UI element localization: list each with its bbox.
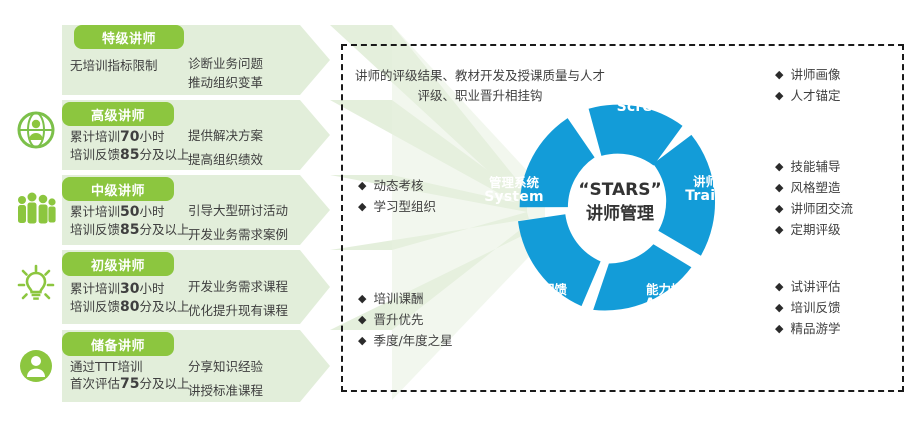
bullet-list-item: ◆ 讲师画像	[775, 64, 840, 85]
diamond-bullet-icon: ◆	[358, 288, 366, 309]
ladder-row[interactable]: 初级讲师 累计培训30小时 培训反馈80分及以上 开发业务需求课程 优化提升现有…	[62, 250, 330, 324]
wheel-segment-ability	[593, 244, 691, 310]
bullets-system: ◆ 动态考核 ◆ 学习型组织	[358, 175, 436, 217]
bullet-list-item: ◆ 风格塑造	[775, 177, 853, 198]
level-requirements: 累计培训30小时 培训反馈80分及以上	[70, 280, 190, 316]
req-line: 首次评估75分及以上	[70, 375, 190, 393]
level-requirements: 无培训指标限制	[70, 57, 158, 74]
diamond-bullet-icon: ◆	[775, 276, 783, 297]
bullet-list-item: ◆ 试讲评估	[775, 276, 840, 297]
bullet-list-item: ◆ 晋升优先	[358, 309, 453, 330]
diamond-bullet-icon: ◆	[358, 175, 366, 196]
bullets-screening: ◆ 讲师画像 ◆ 人才锚定	[775, 64, 840, 106]
diamond-bullet-icon: ◆	[775, 219, 783, 240]
level-duties: 引导大型研讨活动 开发业务需求案例	[188, 201, 288, 244]
diamond-bullet-icon: ◆	[775, 198, 783, 219]
bullet-list-item: ◆ 培训反馈	[775, 297, 840, 318]
level-requirements: 累计培训70小时 培训反馈85分及以上	[70, 128, 190, 164]
people-group-icon	[14, 186, 58, 230]
diamond-bullet-icon: ◆	[358, 196, 366, 217]
diamond-bullet-icon: ◆	[775, 85, 783, 106]
globe-people-icon	[14, 108, 58, 152]
diamond-bullet-icon: ◆	[775, 177, 783, 198]
level-duties: 提供解决方案 提高组织绩效	[188, 126, 263, 169]
bullet-list-item: ◆ 精品游学	[775, 318, 840, 339]
level-badge: 初级讲师	[62, 252, 174, 276]
level-badge: 中级讲师	[62, 177, 174, 201]
req-line: 培训反馈80分及以上	[70, 298, 190, 316]
req-line: 培训反馈85分及以上	[70, 221, 190, 239]
level-requirements: 通过TTT培训 首次评估75分及以上	[70, 358, 190, 393]
bullet-list-item: ◆ 技能辅导	[775, 156, 853, 177]
diamond-bullet-icon: ◆	[358, 309, 366, 330]
bullet-list-item: ◆ 学习型组织	[358, 196, 436, 217]
level-duties: 诊断业务问题 推动组织变革	[188, 54, 263, 92]
req-line: 通过TTT培训	[70, 358, 190, 375]
person-circle-icon	[14, 344, 58, 388]
req-line: 累计培训50小时	[70, 203, 190, 221]
level-badge: 高级讲师	[62, 102, 174, 126]
bullets-training: ◆ 技能辅导 ◆ 风格塑造 ◆ 讲师团交流 ◆ 定期评级	[775, 156, 853, 240]
req-line: 累计培训30小时	[70, 280, 190, 298]
ladder-row[interactable]: 中级讲师 累计培训50小时 培训反馈85分及以上 引导大型研讨活动 开发业务需求…	[62, 175, 330, 245]
bullet-list-item: ◆ 动态考核	[358, 175, 436, 196]
bullet-list-item: ◆ 讲师团交流	[775, 198, 853, 219]
bullet-list-item: ◆ 培训课酬	[358, 288, 453, 309]
ladder-row[interactable]: 储备讲师 通过TTT培训 首次评估75分及以上 分享知识经验 讲授标准课程	[62, 330, 330, 402]
infographic-canvas: 特级讲师 无培训指标限制 诊断业务问题 推动组织变革 高级讲师 累计培训70小时…	[0, 0, 924, 432]
diamond-bullet-icon: ◆	[358, 330, 366, 351]
diamond-bullet-icon: ◆	[775, 297, 783, 318]
diamond-bullet-icon: ◆	[775, 64, 783, 85]
bullets-return: ◆ 培训课酬 ◆ 晋升优先 ◆ 季度/年度之星	[358, 288, 453, 351]
level-duties: 分享知识经验 讲授标准课程	[188, 357, 263, 400]
bullet-list-item: ◆ 季度/年度之星	[358, 330, 453, 351]
diamond-bullet-icon: ◆	[775, 156, 783, 177]
ladder-row[interactable]: 高级讲师 累计培训70小时 培训反馈85分及以上 提供解决方案 提高组织绩效	[62, 100, 330, 170]
level-requirements: 累计培训50小时 培训反馈85分及以上	[70, 203, 190, 239]
level-badge: 特级讲师	[74, 25, 184, 49]
req-line: 累计培训70小时	[70, 128, 190, 146]
bullet-list-item: ◆ 定期评级	[775, 219, 853, 240]
ladder-row[interactable]: 特级讲师 无培训指标限制 诊断业务问题 推动组织变革	[62, 25, 330, 95]
bullet-list-item: ◆ 人才锚定	[775, 85, 840, 106]
wheel-center-label: “STARS” 讲师管理	[561, 178, 679, 242]
level-badge: 储备讲师	[62, 332, 174, 356]
diamond-bullet-icon: ◆	[775, 318, 783, 339]
level-duties: 开发业务需求课程 优化提升现有课程	[188, 277, 288, 320]
req-line: 培训反馈85分及以上	[70, 146, 190, 164]
bullets-ability: ◆ 试讲评估 ◆ 培训反馈 ◆ 精品游学	[775, 276, 840, 339]
lightbulb-icon	[14, 262, 58, 306]
